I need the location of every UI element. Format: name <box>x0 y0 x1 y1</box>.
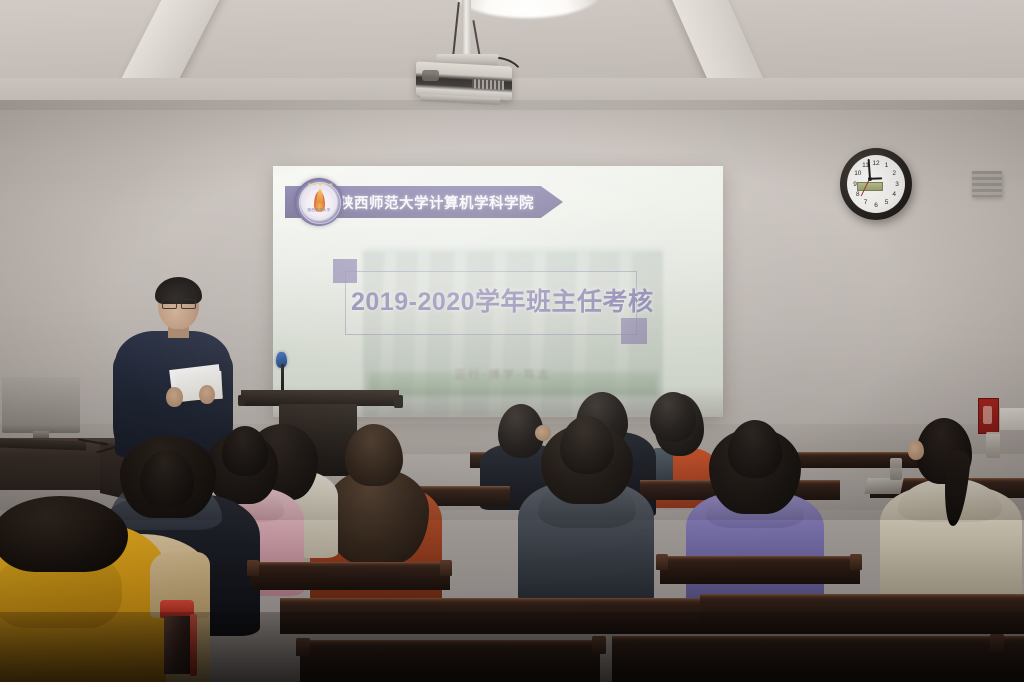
projector-mount-pole <box>462 0 471 58</box>
desk-highlight <box>280 598 700 604</box>
crest-flame-highlight <box>317 189 323 203</box>
university-crest-icon: ★★★★★ 陕西师范大学 <box>295 178 343 226</box>
monitor-bezel <box>2 377 80 433</box>
crest-caption: 陕西师范大学 <box>304 208 334 213</box>
projector-vent <box>472 79 504 90</box>
clock-numeral: 3 <box>892 180 902 189</box>
bench-corner-knob <box>247 560 259 576</box>
clock-numeral: 12 <box>871 159 881 168</box>
bench-highlight <box>250 562 450 567</box>
crest-stars: ★★★★★ <box>307 182 331 190</box>
desk-cup <box>986 432 1000 458</box>
bench-corner-knob <box>656 554 668 570</box>
wall-vent <box>972 171 1002 197</box>
water-bottle <box>890 458 902 480</box>
student-grey-hoodie-head <box>560 416 614 474</box>
clock-numeral: 7 <box>861 198 871 207</box>
bench-corner-knob <box>850 554 862 570</box>
clock-numeral: 5 <box>882 198 892 207</box>
monitor-stand <box>33 431 49 438</box>
student-purple-hoodie-head <box>728 420 782 478</box>
projection-screen: 陕西师范大学计算机学科学院 ★★★★★ 陕西师范大学 2019-2020学年班主… <box>273 166 723 417</box>
presenter-glasses-bridge <box>175 302 181 303</box>
student-beige-jacket-face <box>908 440 924 460</box>
wall-box <box>1000 408 1024 430</box>
slide-accent-square-top-left <box>333 259 357 283</box>
clock-numeral: 6 <box>871 201 881 210</box>
bench-highlight <box>660 556 860 561</box>
student-orange-sweater-head <box>345 424 403 486</box>
clock-numeral: 10 <box>853 169 863 178</box>
desk-highlight <box>700 594 1024 600</box>
presenter-right-hand <box>199 385 215 404</box>
student-laptop <box>864 478 903 494</box>
clock-center-pin <box>868 177 872 181</box>
slide-accent-square-bottom-right <box>621 318 647 344</box>
lectern-corner-right <box>394 395 403 408</box>
student-pink-hoodie-head <box>222 426 268 476</box>
foreground-shadow <box>0 612 1024 682</box>
bench-corner-knob <box>440 560 452 576</box>
lectern-corner-left <box>238 395 245 406</box>
presenter-left-hand <box>166 387 183 407</box>
presenter-glasses-right-lens <box>181 299 196 309</box>
student-back-right-head <box>650 392 696 442</box>
fire-sign-pictogram-icon <box>983 406 992 424</box>
clock-numeral: 2 <box>889 169 899 178</box>
slide-banner-label: 陕西师范大学计算机学科学院 <box>339 192 559 213</box>
projector-lens <box>422 70 439 81</box>
clock-date-window <box>857 182 883 191</box>
classroom-photo: 陕西师范大学计算机学科学院 ★★★★★ 陕西师范大学 2019-2020学年班主… <box>0 0 1024 682</box>
slide-title-text: 2019-2020学年班主任考核 <box>351 282 631 318</box>
presenter-glasses-left-lens <box>162 299 177 309</box>
student-dark-jacket-head <box>140 450 194 508</box>
microphone-stem <box>281 364 284 392</box>
slide-subtitle-text: 正行·博学·笃志 <box>403 366 603 382</box>
student-yellow-hoodie-hair <box>0 496 128 572</box>
wall-clock: 121234567891011 <box>840 148 912 220</box>
student-dark-coat-face <box>535 425 551 441</box>
